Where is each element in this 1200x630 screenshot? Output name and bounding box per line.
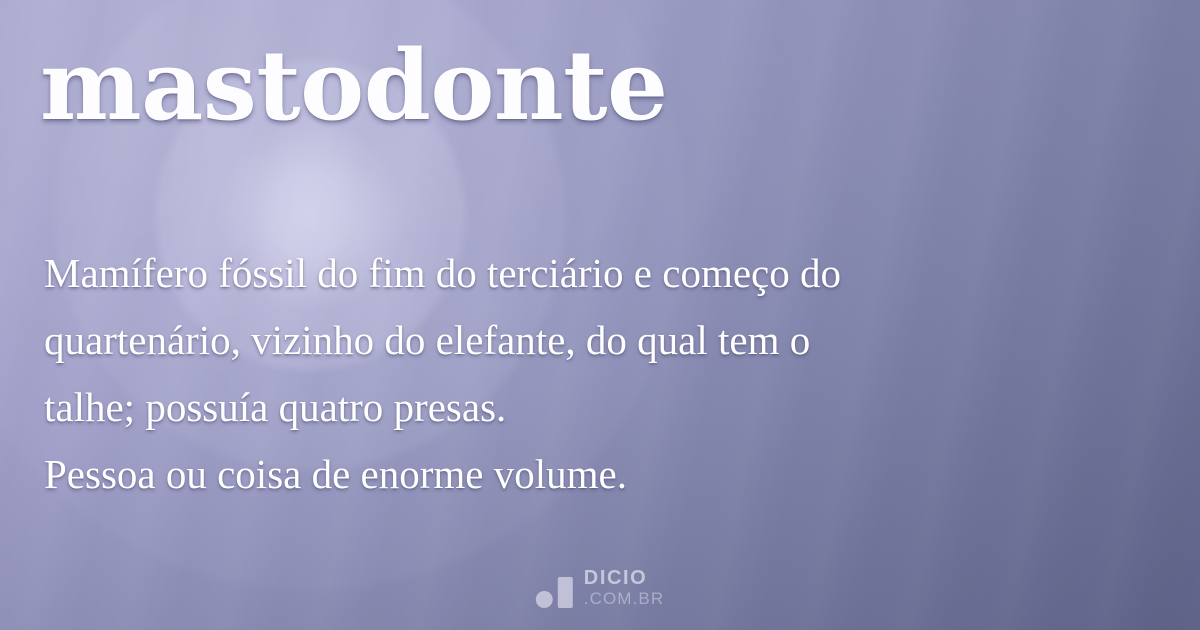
page-title: mastodonte <box>40 38 668 134</box>
definition-list: Mamífero fóssil do fim do terciário e co… <box>44 240 1144 508</box>
logo-circle-shape <box>536 591 553 608</box>
definition-line: quartenário, vizinho do elefante, do qua… <box>44 307 1144 374</box>
logo-brand-name: DICIO <box>584 568 664 588</box>
definition-line: talhe; possuía quatro presas. <box>44 374 1144 441</box>
logo-domain-suffix: .COM.BR <box>584 590 664 607</box>
card-content: mastodonte Mamífero fóssil do fim do ter… <box>0 0 1200 630</box>
definition-line: Pessoa ou coisa de enorme volume. <box>44 441 1144 508</box>
logo-wordmark: DICIO .COM.BR <box>584 568 664 608</box>
dicio-logo-icon <box>536 577 573 608</box>
dicio-word-card: mastodonte Mamífero fóssil do fim do ter… <box>0 0 1200 630</box>
definition-entry: Pessoa ou coisa de enorme volume. <box>44 441 1144 508</box>
definition-line: Mamífero fóssil do fim do terciário e co… <box>44 240 1144 307</box>
definition-entry: Mamífero fóssil do fim do terciário e co… <box>44 240 1144 441</box>
dicio-logo[interactable]: DICIO .COM.BR <box>536 568 664 608</box>
logo-bar-shape <box>558 577 573 608</box>
